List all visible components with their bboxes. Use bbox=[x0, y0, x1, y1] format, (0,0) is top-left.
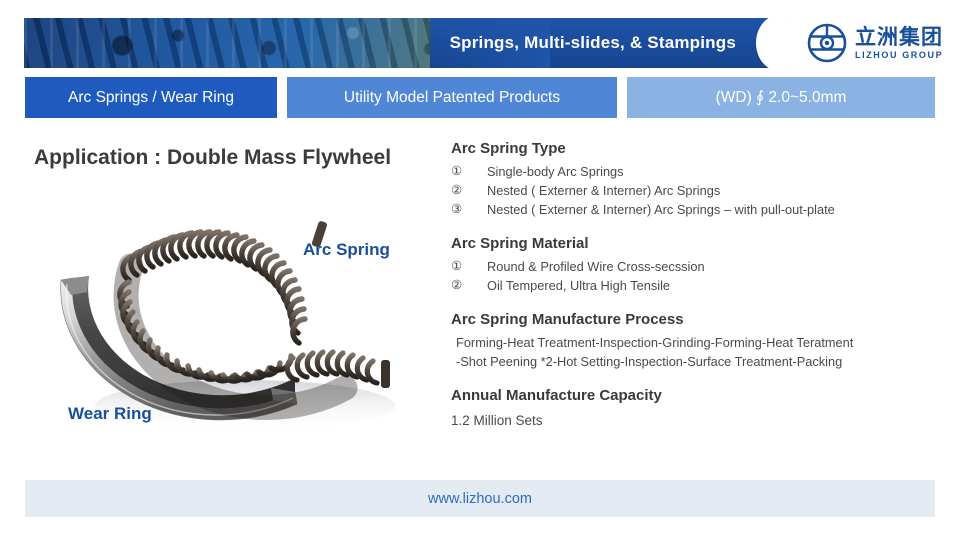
list-item: ③ Nested ( Externer & Interner) Arc Spri… bbox=[451, 200, 951, 219]
logo-english-name: LIZHOU GROUP bbox=[855, 51, 943, 60]
slide-page: Springs, Multi-slides, & Stampings 立洲集团 … bbox=[0, 0, 960, 540]
list-item-text: Round & Profiled Wire Cross-secssion bbox=[487, 257, 705, 276]
list-item: ① Single-body Arc Springs bbox=[451, 162, 951, 181]
header-title: Springs, Multi-slides, & Stampings bbox=[430, 18, 760, 68]
tab-wire-diameter-range[interactable]: (WD) ∮ 2.0~5.0mm bbox=[627, 77, 935, 118]
spec-group-capacity: Annual Manufacture Capacity 1.2 Million … bbox=[451, 387, 951, 428]
spec-group-type: Arc Spring Type ① Single-body Arc Spring… bbox=[451, 140, 951, 219]
company-logo: 立洲集团 LIZHOU GROUP bbox=[806, 20, 952, 66]
spec-heading-material: Arc Spring Material bbox=[451, 235, 951, 252]
list-item: ① Round & Profiled Wire Cross-secssion bbox=[451, 257, 951, 276]
process-line-1: Forming-Heat Treatment-Inspection-Grindi… bbox=[456, 333, 951, 352]
logo-chinese-name: 立洲集团 bbox=[855, 27, 943, 48]
list-item: ② Nested ( Externer & Interner) Arc Spri… bbox=[451, 181, 951, 200]
list-item-text: Single-body Arc Springs bbox=[487, 162, 624, 181]
category-tab-bar: Arc Springs / Wear Ring Utility Model Pa… bbox=[25, 77, 935, 118]
application-title: Application : Double Mass Flywheel bbox=[34, 146, 391, 170]
list-item: ② Oil Tempered, Ultra High Tensile bbox=[451, 276, 951, 295]
spec-heading-type: Arc Spring Type bbox=[451, 140, 951, 157]
lizhou-circle-emblem-icon bbox=[806, 22, 848, 64]
list-item-text: Nested ( Externer & Interner) Arc Spring… bbox=[487, 181, 720, 200]
list-marker-1-icon: ① bbox=[451, 257, 487, 276]
callout-wear-ring: Wear Ring bbox=[68, 404, 152, 424]
list-marker-2-icon: ② bbox=[451, 181, 487, 200]
spec-group-material: Arc Spring Material ① Round & Profiled W… bbox=[451, 235, 951, 295]
list-item-text: Oil Tempered, Ultra High Tensile bbox=[487, 276, 670, 295]
list-marker-3-icon: ③ bbox=[451, 200, 487, 219]
website-url[interactable]: www.lizhou.com bbox=[428, 491, 532, 507]
capacity-value: 1.2 Million Sets bbox=[451, 413, 951, 428]
list-item-text: Nested ( Externer & Interner) Arc Spring… bbox=[487, 200, 835, 219]
process-line-2: -Shot Peening *2-Hot Setting-Inspection-… bbox=[456, 352, 951, 371]
callout-arc-spring: Arc Spring bbox=[303, 240, 390, 260]
tab-utility-model-patented-products[interactable]: Utility Model Patented Products bbox=[287, 77, 617, 118]
header-notch-shape bbox=[756, 18, 802, 68]
spec-heading-capacity: Annual Manufacture Capacity bbox=[451, 387, 951, 404]
list-marker-1-icon: ① bbox=[451, 162, 487, 181]
spec-group-process: Arc Spring Manufacture Process Forming-H… bbox=[451, 311, 951, 371]
spec-list-material: ① Round & Profiled Wire Cross-secssion ②… bbox=[451, 257, 951, 295]
list-marker-2-icon: ② bbox=[451, 276, 487, 295]
specification-panel: Arc Spring Type ① Single-body Arc Spring… bbox=[451, 140, 951, 428]
tab-arc-springs-wear-ring[interactable]: Arc Springs / Wear Ring bbox=[25, 77, 277, 118]
logo-wordmark: 立洲集团 LIZHOU GROUP bbox=[855, 27, 943, 60]
footer-bar: www.lizhou.com bbox=[25, 480, 935, 517]
spec-heading-process: Arc Spring Manufacture Process bbox=[451, 311, 951, 328]
spec-list-type: ① Single-body Arc Springs ② Nested ( Ext… bbox=[451, 162, 951, 219]
